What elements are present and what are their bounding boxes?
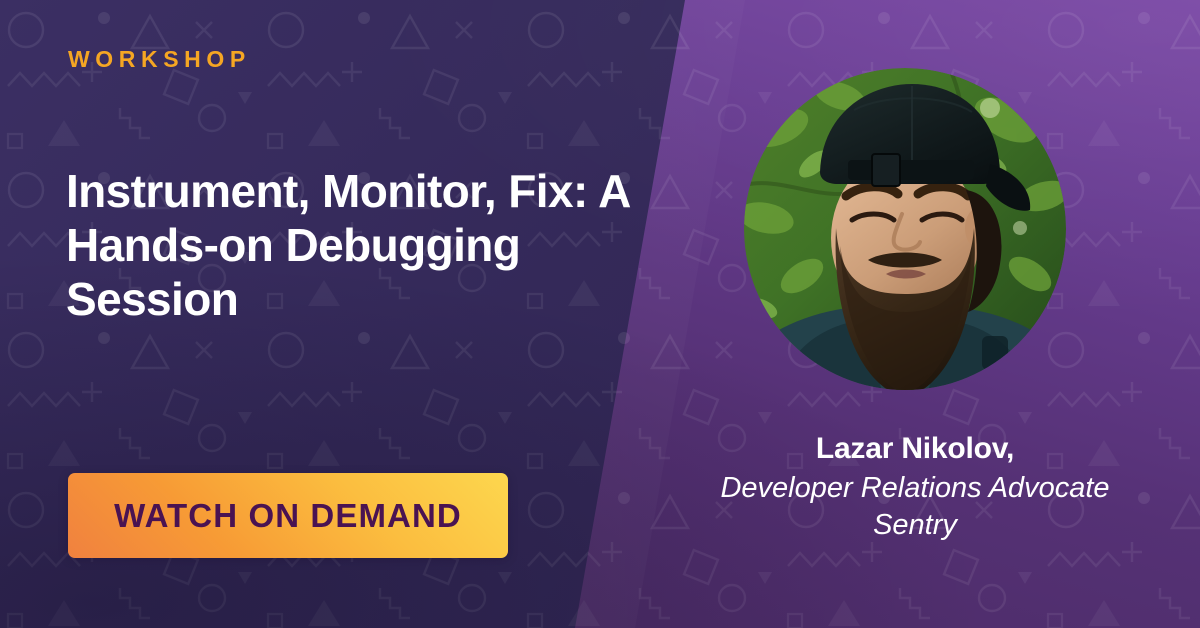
speaker-name: Lazar Nikolov, <box>645 431 1185 467</box>
webinar-promo-banner: WORKSHOP Instrument, Monitor, Fix: A Han… <box>0 0 1200 628</box>
eyebrow-label: WORKSHOP <box>68 48 251 71</box>
watch-on-demand-button[interactable]: WATCH ON DEMAND <box>68 473 508 558</box>
speaker-role: Developer Relations Advocate <box>645 470 1185 507</box>
page-title: Instrument, Monitor, Fix: A Hands-on Deb… <box>66 164 666 327</box>
speaker-avatar <box>744 68 1066 390</box>
speaker-info: Lazar Nikolov, Developer Relations Advoc… <box>645 431 1185 544</box>
speaker-organization: Sentry <box>645 507 1185 544</box>
